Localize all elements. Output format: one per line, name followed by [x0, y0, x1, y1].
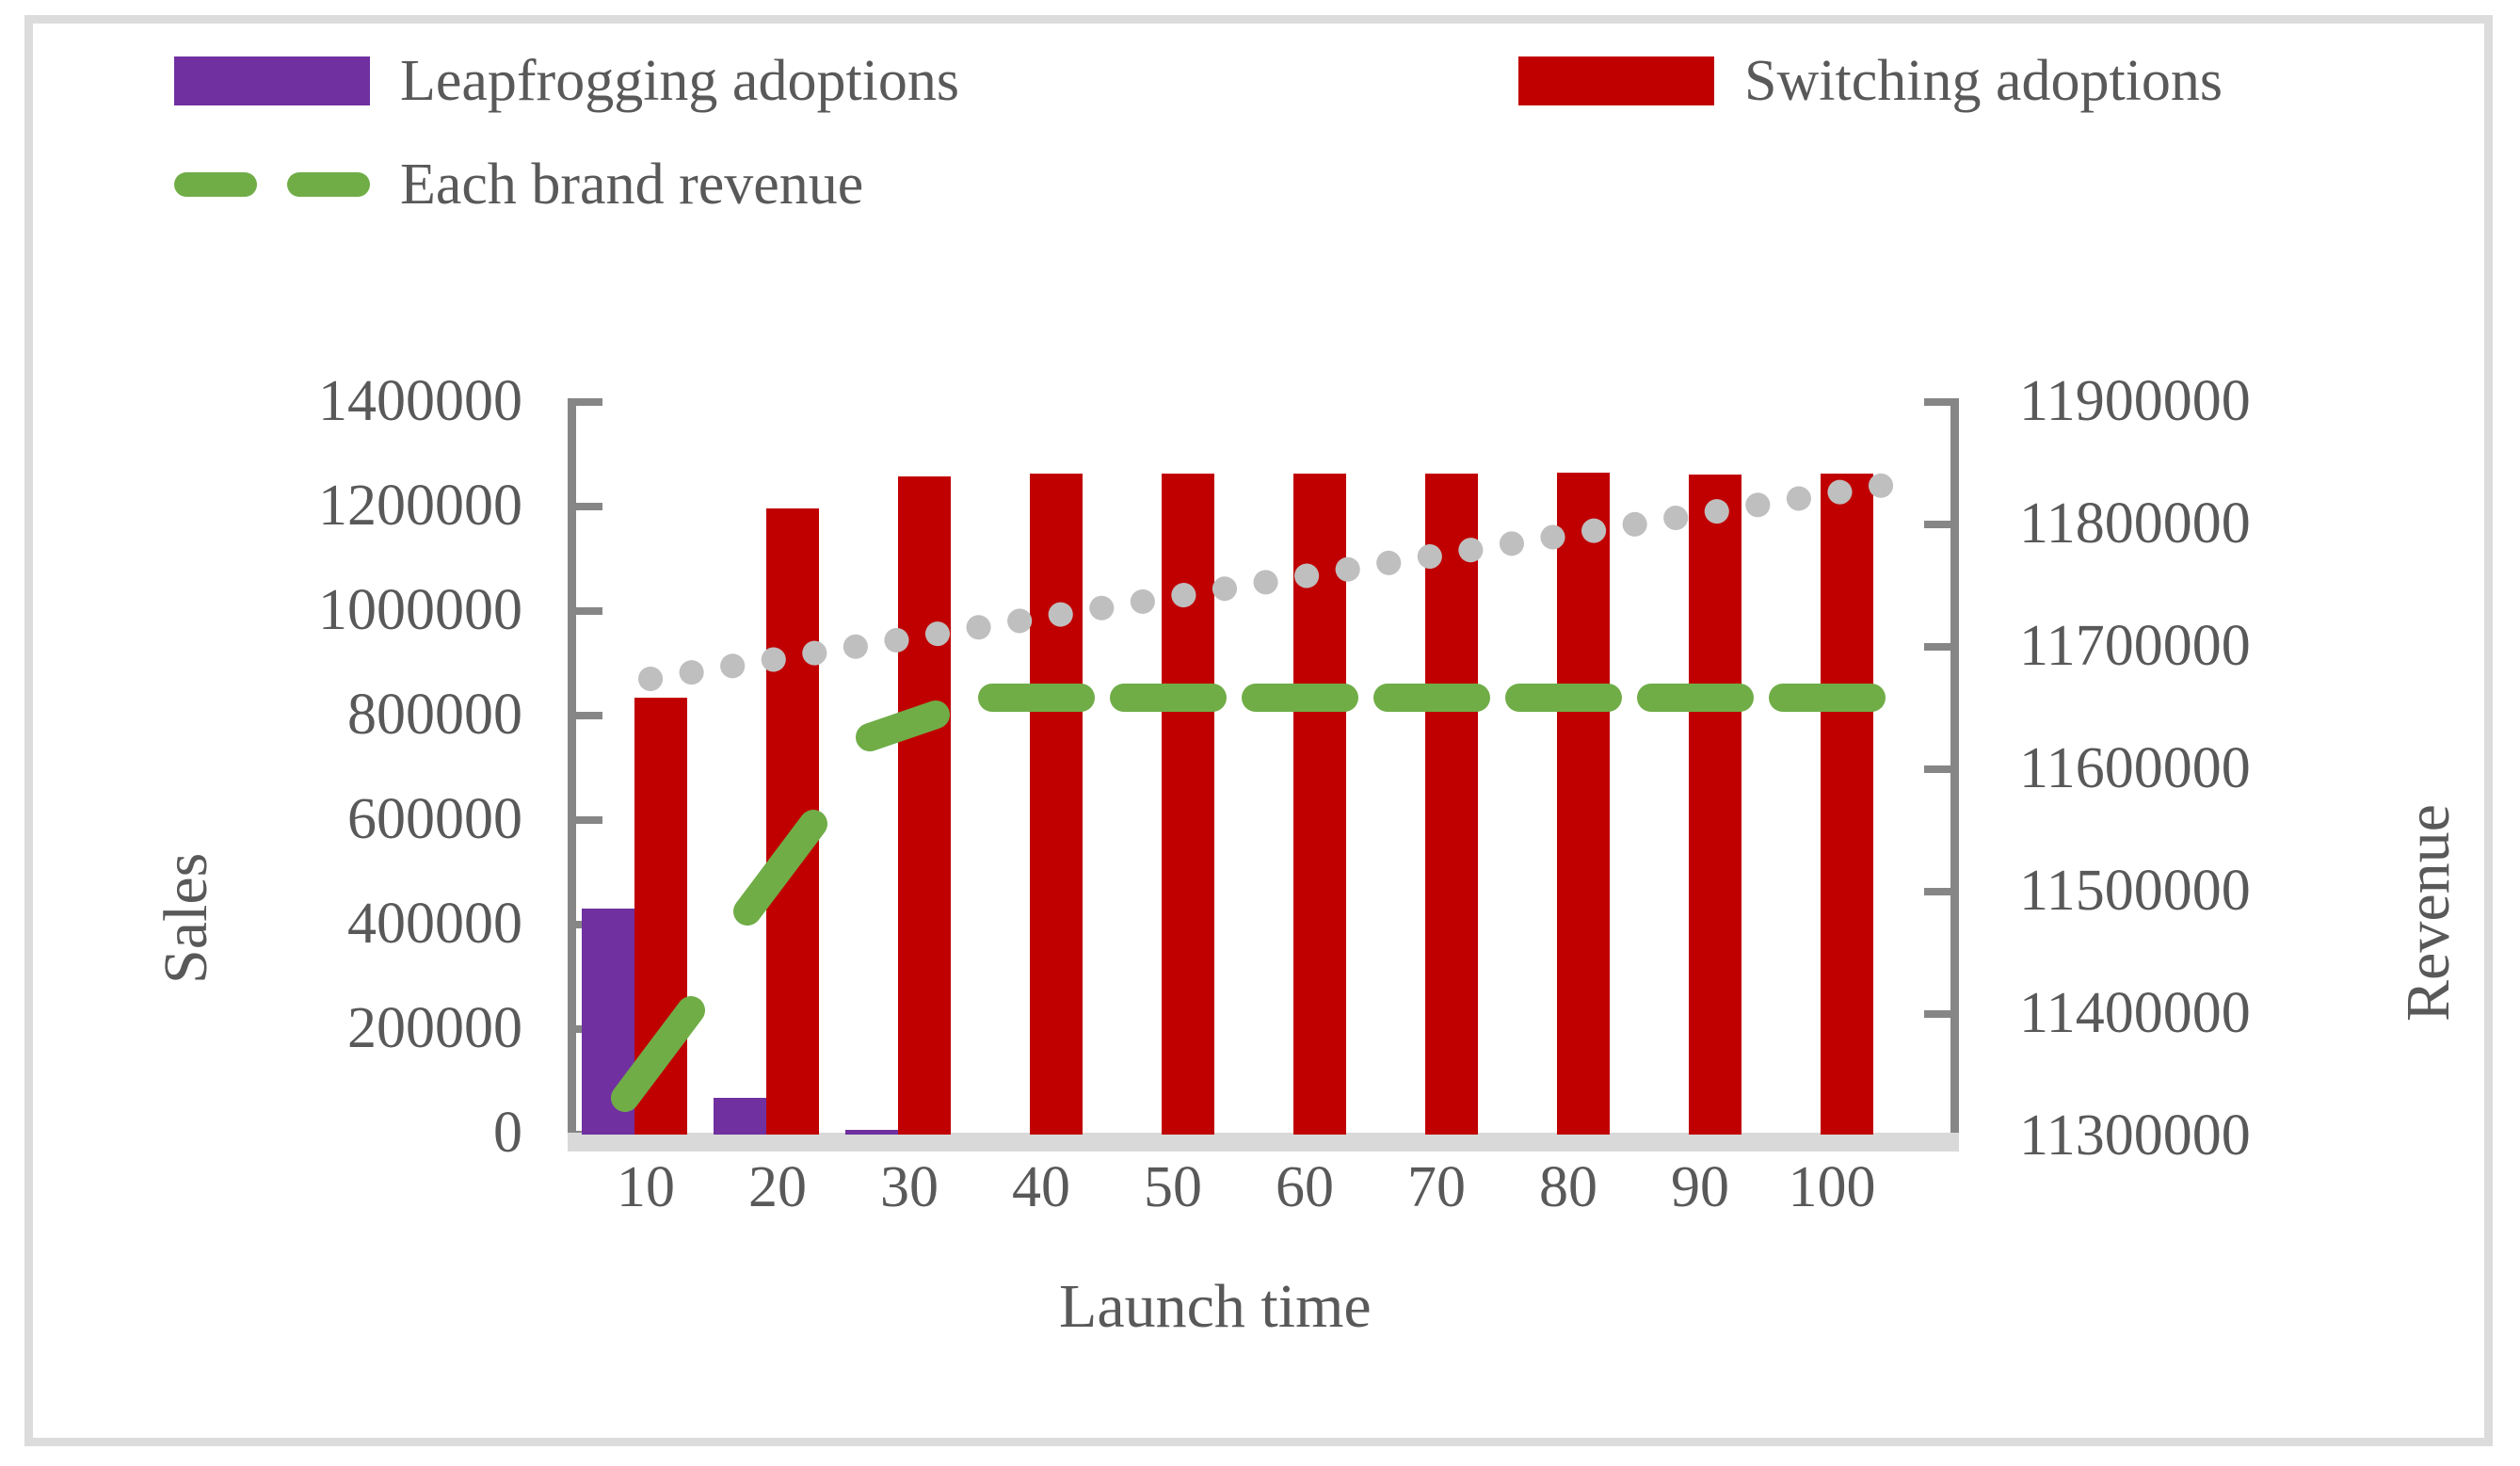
- y-axis-title-right: Revenue: [2398, 804, 2460, 1022]
- chart-legend: Leapfrogging adoptions Switching adoptio…: [33, 24, 2484, 202]
- x-tick-label: 40: [975, 1158, 1107, 1216]
- y-tick-label-right: 11500000: [2019, 862, 2251, 920]
- y-axis-tick-right: [1924, 398, 1950, 406]
- y-tick-label-left: 1200000: [136, 476, 522, 535]
- y-tick-label-right: 11600000: [2019, 739, 2251, 797]
- legend-item-switching: Switching adoptions: [1518, 52, 2223, 110]
- y-tick-label-left: 400000: [136, 894, 522, 953]
- x-tick-label: 70: [1371, 1158, 1502, 1216]
- x-tick-label: 60: [1239, 1158, 1371, 1216]
- x-axis-baseline: [568, 1133, 1959, 1152]
- legend-label: Switching adoptions: [1744, 52, 2223, 110]
- x-tick-label: 80: [1502, 1158, 1634, 1216]
- x-tick-label: 100: [1766, 1158, 1898, 1216]
- legend-swatch-bar-icon: [1518, 56, 1714, 105]
- y-tick-label-left: 1000000: [136, 581, 522, 639]
- legend-item-leapfrogging: Leapfrogging adoptions: [174, 52, 959, 110]
- y-tick-label-right: 11800000: [2019, 494, 2251, 553]
- x-tick-label: 90: [1634, 1158, 1766, 1216]
- legend-label: Leapfrogging adoptions: [400, 52, 959, 110]
- plot-area: [568, 398, 1889, 1135]
- trendline-dotted: [568, 398, 1889, 1135]
- y-tick-label-right: 11400000: [2019, 984, 2251, 1042]
- chart-frame: Leapfrogging adoptions Switching adoptio…: [24, 15, 2493, 1446]
- y-tick-label-right: 11900000: [2019, 372, 2251, 430]
- legend-dashed-line-icon: [174, 160, 370, 209]
- x-tick-label: 10: [580, 1158, 712, 1216]
- y-axis-tick-right: [1924, 643, 1950, 651]
- legend-swatch-bar-icon: [174, 56, 370, 105]
- legend-label: Each brand revenue: [400, 155, 863, 214]
- y-tick-label-right: 11700000: [2019, 617, 2251, 675]
- y-axis-tick-right: [1924, 765, 1950, 773]
- x-tick-label: 30: [843, 1158, 975, 1216]
- y-tick-label-left: 800000: [136, 685, 522, 744]
- y-tick-label-left: 1400000: [136, 372, 522, 430]
- y-axis-line-right: [1950, 398, 1959, 1138]
- y-axis-tick-right: [1924, 1010, 1950, 1018]
- y-axis-tick-right: [1924, 888, 1950, 895]
- x-axis-title: Launch time: [1059, 1276, 1372, 1338]
- y-tick-label-left: 600000: [136, 790, 522, 848]
- x-tick-label: 50: [1107, 1158, 1239, 1216]
- y-axis-tick-right: [1924, 521, 1950, 528]
- legend-item-revenue: Each brand revenue: [174, 155, 863, 214]
- y-tick-label-right: 11300000: [2019, 1106, 2251, 1165]
- x-tick-label: 20: [712, 1158, 843, 1216]
- y-tick-label-left: 0: [136, 1104, 522, 1162]
- y-tick-label-left: 200000: [136, 999, 522, 1057]
